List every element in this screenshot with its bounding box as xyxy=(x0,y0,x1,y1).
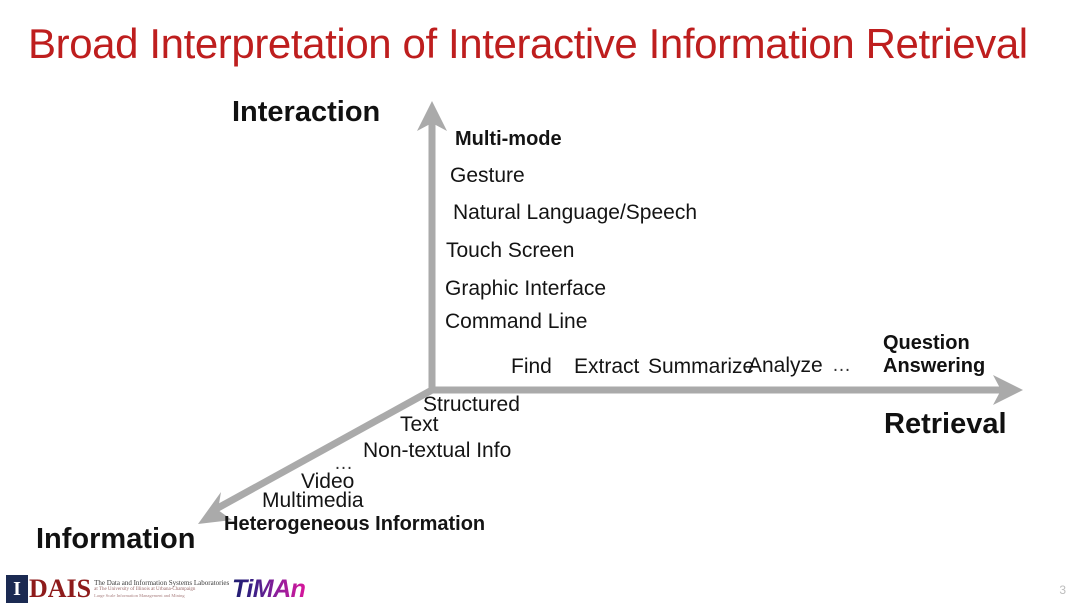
interaction-axis-arrow xyxy=(417,101,447,390)
information-label-multimedia: Multimedia xyxy=(262,489,364,513)
interaction-label-multi-mode: Multi-mode xyxy=(455,128,562,151)
retrieval-label-extract: Extract xyxy=(574,355,639,379)
interaction-label-command-line: Command Line xyxy=(445,310,587,334)
dais-wordmark: DAIS xyxy=(29,576,91,602)
information-label-heterogeneous-information: Heterogeneous Information xyxy=(224,513,485,536)
retrieval-label-analyze: Analyze xyxy=(748,354,823,378)
page-number: 3 xyxy=(1059,583,1066,597)
dais-subtitle-block: The Data and Information Systems Laborat… xyxy=(94,576,229,602)
axis-title-retrieval: Retrieval xyxy=(884,408,1007,441)
dais-mark-icon: I xyxy=(6,575,28,603)
retrieval-end-label-question-answering: Question Answering xyxy=(883,332,985,378)
timan-logo: TiMAn xyxy=(232,577,305,602)
interaction-label-graphic-interface: Graphic Interface xyxy=(445,277,606,301)
dais-subtitle-line-3: Large Scale Information Management and M… xyxy=(94,593,229,599)
interaction-label-gesture: Gesture xyxy=(450,164,525,188)
interaction-label-natural-language-speech: Natural Language/Speech xyxy=(453,201,697,225)
slide-canvas: Broad Interpretation of Interactive Info… xyxy=(0,0,1080,608)
dais-subtitle-line-1: The Data and Information Systems Laborat… xyxy=(94,579,229,587)
dais-logo: I DAIS The Data and Information Systems … xyxy=(6,574,229,604)
question-answering-line-1: Question xyxy=(883,332,985,355)
interaction-label-touch-screen: Touch Screen xyxy=(446,239,574,263)
retrieval-axis-arrow xyxy=(432,375,1023,405)
axes-diagram xyxy=(0,0,1080,608)
information-label-non-textual-info: Non-textual Info xyxy=(363,439,511,463)
axis-title-interaction: Interaction xyxy=(232,96,380,129)
retrieval-label-ellipsis: … xyxy=(832,355,851,377)
retrieval-label-summarize: Summarize xyxy=(648,355,754,379)
information-label-text: Text xyxy=(400,413,439,437)
footer: I DAIS The Data and Information Systems … xyxy=(0,570,1080,608)
question-answering-line-2: Answering xyxy=(883,355,985,378)
retrieval-label-find: Find xyxy=(511,355,552,379)
axis-title-information: Information xyxy=(36,523,196,556)
